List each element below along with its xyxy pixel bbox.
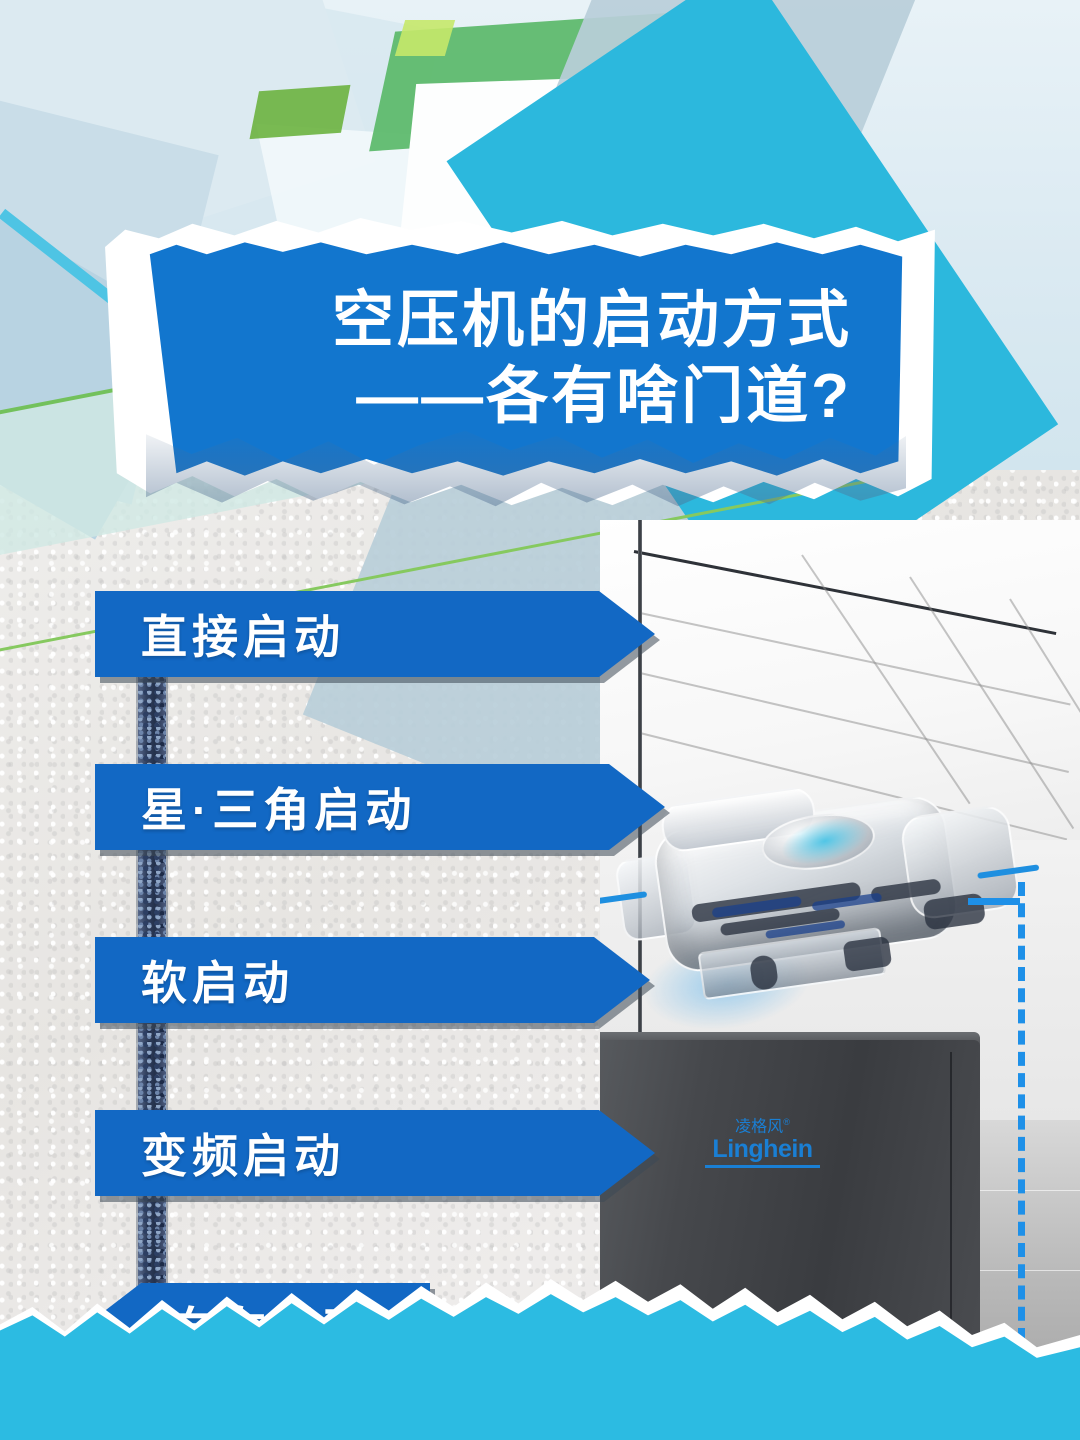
banner-item-direct-start[interactable]: 直接启动 — [95, 591, 655, 677]
banner-item-star-delta-start[interactable]: 星·三角启动 — [95, 764, 665, 850]
banner-item-soft-start[interactable]: 软启动 — [95, 937, 650, 1023]
background-shape-green-light — [395, 20, 455, 56]
dashed-callout-line — [1018, 882, 1025, 1342]
dashed-callout-bracket — [968, 898, 1020, 905]
banner-label: 变频启动 — [95, 1120, 345, 1186]
page-title-line-1: 空压机的启动方式 — [332, 283, 852, 359]
brand-logo-chinese: 凌格风® — [705, 1118, 820, 1135]
title-card: 空压机的启动方式 ——各有啥门道? — [100, 218, 940, 508]
brand-logo-latin: Linghein — [705, 1137, 820, 1162]
poster-root: 凌格风® Linghein — [0, 0, 1080, 1440]
brand-logo-underline — [705, 1165, 820, 1168]
banner-item-vfd-start[interactable]: 变频启动 — [95, 1110, 655, 1196]
brand-logo: 凌格风® Linghein — [705, 1118, 820, 1168]
factory-photo: 凌格风® Linghein — [600, 520, 1080, 1380]
banner-label: 软启动 — [95, 947, 294, 1013]
banner-label: 星·三角启动 — [95, 774, 416, 840]
page-title: 空压机的启动方式 ——各有啥门道? — [146, 240, 906, 478]
background-shape-green-small — [250, 85, 351, 139]
registered-mark-icon: ® — [783, 1117, 790, 1127]
banner-label: 直接启动 — [95, 601, 345, 667]
page-title-line-2: ——各有啥门道? — [356, 359, 852, 435]
